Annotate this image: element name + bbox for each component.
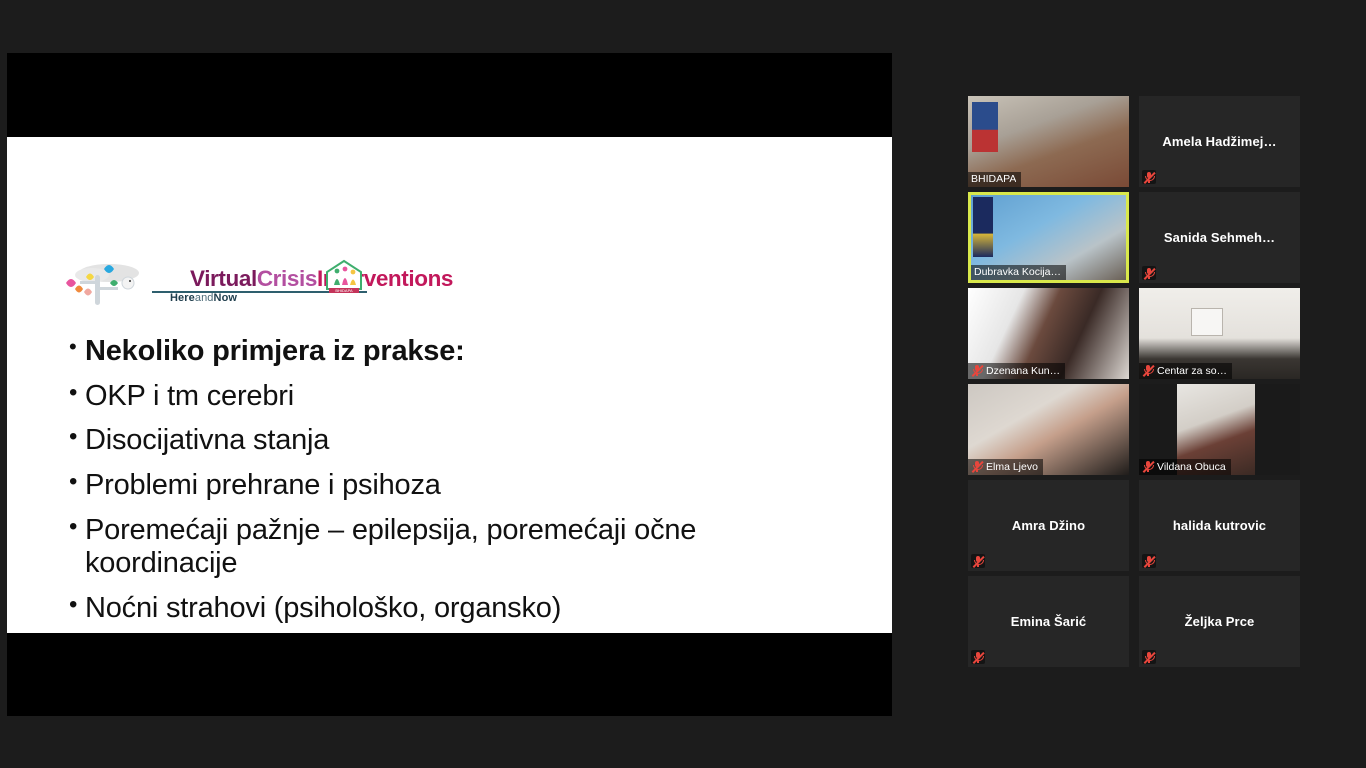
participant-name-bar: Dzenana Kun… [968,363,1065,379]
participant-tile[interactable]: Vildana Obuca [1139,384,1300,475]
microphone-muted-icon [972,651,984,664]
slide-bullet-list: •Nekoliko primjera iz prakse:•OKP i tm c… [69,335,829,633]
participant-tile[interactable]: Centar za so… [1139,288,1300,379]
microphone-muted-icon [1143,651,1155,664]
participant-name: halida kutrovic [1139,480,1300,571]
slide-bullet-item: •Poremećaji pažnje – epilepsija, poremeć… [69,514,829,581]
logo-sub-now: Now [214,292,238,304]
microphone-muted-icon [972,555,984,568]
participant-mute-indicator [1142,266,1156,280]
participant-tile[interactable]: Elma Ljevo [968,384,1129,475]
logo-word-crisis: Crisis [257,266,317,291]
zoom-meeting-window: VirtualCrisisInterventions HereandNow BH… [0,0,1366,768]
participant-name: Elma Ljevo [986,461,1038,473]
svg-text:BHIDAPA: BHIDAPA [335,288,353,293]
participant-mute-indicator [971,650,985,664]
slide-bullet-item: •Noćni strahovi (psihološko, organsko) [69,592,829,626]
microphone-muted-icon [1142,364,1154,377]
logo-word-virtual: Virtual [190,266,257,291]
microphone-muted-icon [1143,267,1155,280]
participant-tile[interactable]: Dzenana Kun… [968,288,1129,379]
bullet-dot-icon: • [69,469,85,496]
participant-mute-indicator [1142,554,1156,568]
participant-mute-indicator [1142,170,1156,184]
bullet-dot-icon: • [69,335,85,360]
shared-screen-region[interactable]: VirtualCrisisInterventions HereandNow BH… [7,53,892,716]
participant-tile[interactable]: Amra Džino [968,480,1129,571]
microphone-muted-icon [971,460,983,473]
participant-name: Amra Džino [968,480,1129,571]
bullet-dot-icon: • [69,514,85,541]
participant-name: Centar za so… [1157,365,1227,377]
participant-tile[interactable]: BHIDAPA [968,96,1129,187]
bullet-text: Problemi prehrane i psihoza [85,469,829,503]
participant-name: Dubravka Kocija… [974,266,1061,278]
participant-tile[interactable]: Željka Prce [1139,576,1300,667]
slide-bullet-item: •Nekoliko primjera iz prakse: [69,335,829,369]
logo-wordmark: VirtualCrisisInterventions [190,266,453,292]
participant-tile[interactable]: Dubravka Kocija… [968,192,1129,283]
participant-tile[interactable]: Emina Šarić [968,576,1129,667]
participant-name: Emina Šarić [968,576,1129,667]
bhidapa-house-logo-icon: BHIDAPA [325,259,363,295]
participant-name: Amela Hadžimej… [1139,96,1300,187]
bullet-dot-icon: • [69,592,85,619]
bullet-dot-icon: • [69,380,85,407]
bullet-text: OKP i tm cerebri [85,380,829,414]
participant-name-bar: Vildana Obuca [1139,459,1231,475]
virtual-crisis-interventions-logo: VirtualCrisisInterventions HereandNow [52,261,367,307]
microphone-muted-icon [1142,460,1154,473]
logo-sub-here: Here [170,292,195,304]
participant-name-bar: Dubravka Kocija… [971,265,1066,280]
microphone-muted-icon [1143,171,1155,184]
participant-name: Sanida Sehmeh… [1139,192,1300,283]
participant-name: BHIDAPA [971,173,1016,185]
bullet-text: Noćni strahovi (psihološko, organsko) [85,592,829,626]
participant-mute-indicator [1142,650,1156,664]
bullet-dot-icon: • [69,424,85,451]
bullet-text: Disocijativna stanja [85,424,829,458]
presentation-slide: VirtualCrisisInterventions HereandNow BH… [7,137,892,633]
microphone-muted-icon [971,364,983,377]
tree-icon [52,261,182,307]
participant-mute-indicator [971,554,985,568]
slide-bullet-item: •Disocijativna stanja [69,424,829,458]
bullet-text: Poremećaji pažnje – epilepsija, poremeća… [85,514,829,581]
participant-name-bar: Centar za so… [1139,363,1232,379]
slide-bullet-item: •OKP i tm cerebri [69,380,829,414]
participant-name-bar: BHIDAPA [968,172,1021,187]
participant-name: Vildana Obuca [1157,461,1226,473]
microphone-muted-icon [1143,555,1155,568]
participant-name: Željka Prce [1139,576,1300,667]
slide-bullet-item: •Problemi prehrane i psihoza [69,469,829,503]
participant-name: Dzenana Kun… [986,365,1060,377]
logo-sub-and: and [195,292,214,304]
participant-name-bar: Elma Ljevo [968,459,1043,475]
participant-tile[interactable]: halida kutrovic [1139,480,1300,571]
logo-subtitle: HereandNow [170,292,237,304]
participant-tile[interactable]: Sanida Sehmeh… [1139,192,1300,283]
participant-video-grid: BHIDAPAAmela Hadžimej…Dubravka Kocija…Sa… [968,96,1300,673]
bullet-text: Nekoliko primjera iz prakse: [85,335,829,369]
participant-tile[interactable]: Amela Hadžimej… [1139,96,1300,187]
